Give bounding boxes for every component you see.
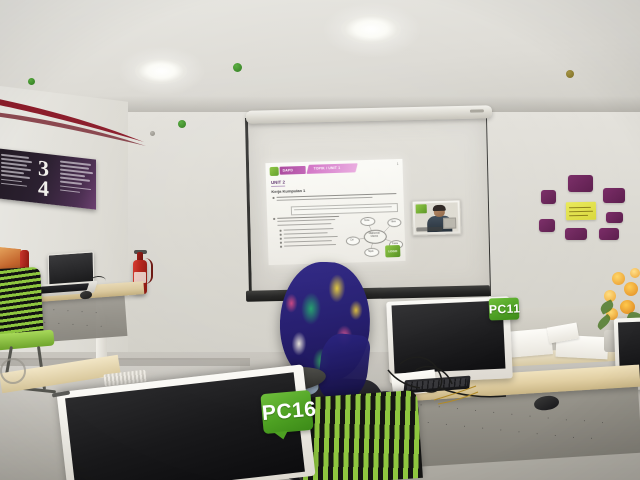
wall-card-7: [599, 228, 619, 240]
wall-sign-text-left: [1, 154, 34, 191]
slide-tab-purple-label: DAPD: [283, 166, 294, 174]
mindmap-center-label: Maklumat Utama: [366, 232, 383, 239]
slide-page-number: 1: [397, 162, 399, 166]
wall-card-5: [539, 219, 555, 232]
wall-card-4: [606, 212, 623, 223]
webcam-video-frame: [415, 202, 459, 232]
projected-slide: DAPD TOPIK / UNIT 1 1 UNIT 2 Kerja Kumpu…: [265, 159, 405, 265]
mindmap-node-5-label: Ciri: [346, 238, 358, 241]
wall-card-2: [541, 190, 556, 204]
mindmap-node-1-label: Nota: [360, 219, 373, 222]
slide-subheading: Kerja Kumpulan 1: [271, 188, 305, 194]
olive-dot-icon: [566, 70, 574, 78]
wall-sign-text-right: [60, 160, 94, 197]
webcam-secondary-tile: [443, 217, 456, 228]
slide-header-tabs: DAPD TOPIK / UNIT 1: [270, 162, 398, 177]
recessed-downlight-left: [135, 58, 187, 84]
webcam-badge-icon: [416, 204, 427, 213]
webcam-person-hair: [433, 205, 446, 211]
green-dot-icon-3: [28, 78, 35, 85]
chair-base-ring: [0, 358, 26, 384]
slide-heading: UNIT 2: [271, 180, 285, 187]
wall-card-6: [565, 228, 587, 240]
green-dot-icon-2: [178, 120, 186, 128]
green-dot-icon-1: [233, 63, 242, 72]
fire-extinguisher-hose: [145, 258, 153, 284]
wall-sign-number-bottom: 4: [38, 177, 49, 200]
wall-card-1: [568, 175, 593, 192]
pc-tag-pc16: PC16: [260, 390, 313, 434]
flower-bloom-1: [612, 272, 625, 285]
flower-bloom-6: [630, 268, 640, 278]
classroom-photo: 3 4 DAPD TOPIK / UNIT 1 1 UNIT 2 Kerja K…: [0, 0, 640, 480]
slide-logo: LOGO: [385, 245, 400, 257]
yellow-sticky-note: [566, 202, 596, 221]
webcam-caption-bar: [416, 227, 442, 232]
recessed-downlight-center: [341, 14, 401, 44]
wall-card-3: [603, 188, 625, 203]
wall-baseboard: [0, 358, 250, 366]
webcam-video-thumbnail: [412, 199, 462, 235]
mindmap-node-2-label: Idea: [387, 220, 399, 223]
slide-tab-pink-label: TOPIK / UNIT 1: [314, 164, 341, 173]
mindmap-node-4-label: Tajuk: [364, 250, 377, 253]
slide-tab-green-icon: [270, 167, 279, 176]
wall-swoosh-graphic: [0, 96, 154, 148]
flower-bloom-2: [624, 282, 638, 296]
pc-tag-pc11: PC11: [489, 297, 520, 320]
